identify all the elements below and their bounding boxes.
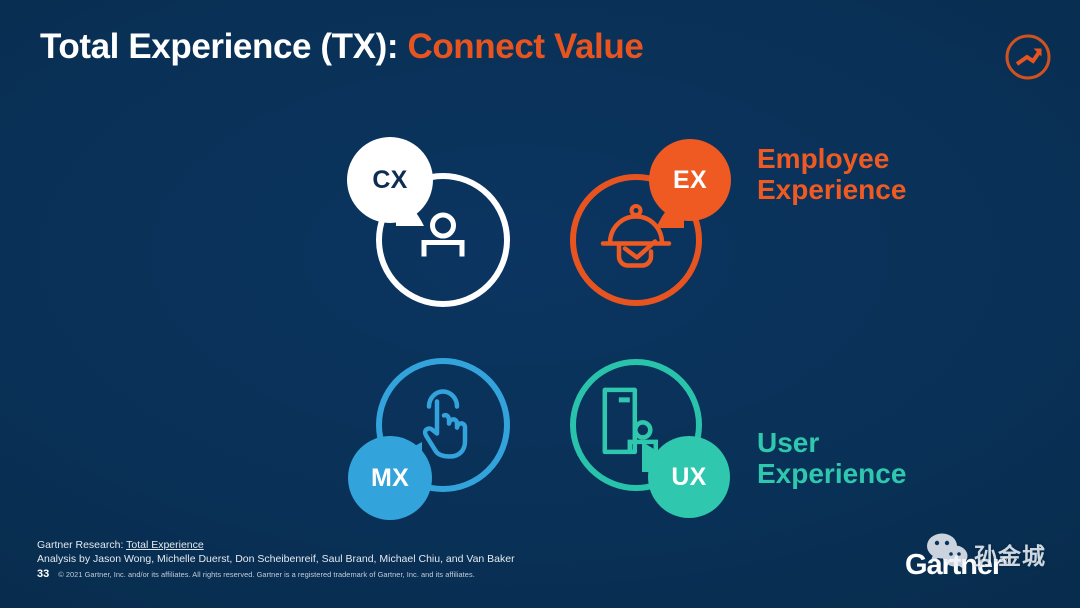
mx-badge-label: MX: [371, 464, 409, 493]
page-title-accent: Connect Value: [407, 27, 643, 66]
ex-badge-label: EX: [673, 166, 707, 195]
footer-copyright: 33 © 2021 Gartner, Inc. and/or its affil…: [37, 568, 475, 580]
wechat-watermark: 孙金城: [925, 531, 1046, 576]
ux-badge-label: UX: [671, 463, 706, 492]
research-line: Gartner Research: Total Experience: [37, 538, 515, 552]
ex-badge[interactable]: EX: [649, 139, 731, 221]
research-link[interactable]: Total Experience: [126, 539, 204, 551]
footer-research: Gartner Research: Total Experience Analy…: [37, 538, 515, 566]
slide-canvas: Total Experience (TX): Connect Value CX …: [0, 0, 1080, 608]
analysis-line: Analysis by Jason Wong, Michelle Duerst,…: [37, 552, 515, 566]
page-title-primary: Total Experience (TX):: [40, 27, 407, 66]
cx-badge[interactable]: CX: [347, 137, 433, 223]
page-number: 33: [37, 568, 49, 580]
serving-tray-icon: [597, 202, 675, 279]
ex-label: Employee Experience: [757, 143, 906, 206]
ux-badge[interactable]: UX: [648, 436, 730, 518]
ux-label-line1: User: [757, 427, 906, 458]
wechat-icon: [925, 531, 971, 576]
ux-label-line2: Experience: [757, 458, 906, 489]
arrow-up-right-circle-icon: [1004, 33, 1052, 81]
watermark-text: 孙金城: [974, 537, 1046, 571]
ex-label-line1: Employee: [757, 143, 906, 174]
ux-label: User Experience: [757, 427, 906, 490]
research-prefix: Gartner Research:: [37, 539, 126, 551]
ex-label-line2: Experience: [757, 174, 906, 205]
legal-text: © 2021 Gartner, Inc. and/or its affiliat…: [58, 570, 475, 579]
mx-badge[interactable]: MX: [348, 436, 432, 520]
person-icon: [412, 207, 474, 274]
page-title: Total Experience (TX): Connect Value: [40, 27, 643, 67]
cx-badge-label: CX: [372, 166, 407, 195]
